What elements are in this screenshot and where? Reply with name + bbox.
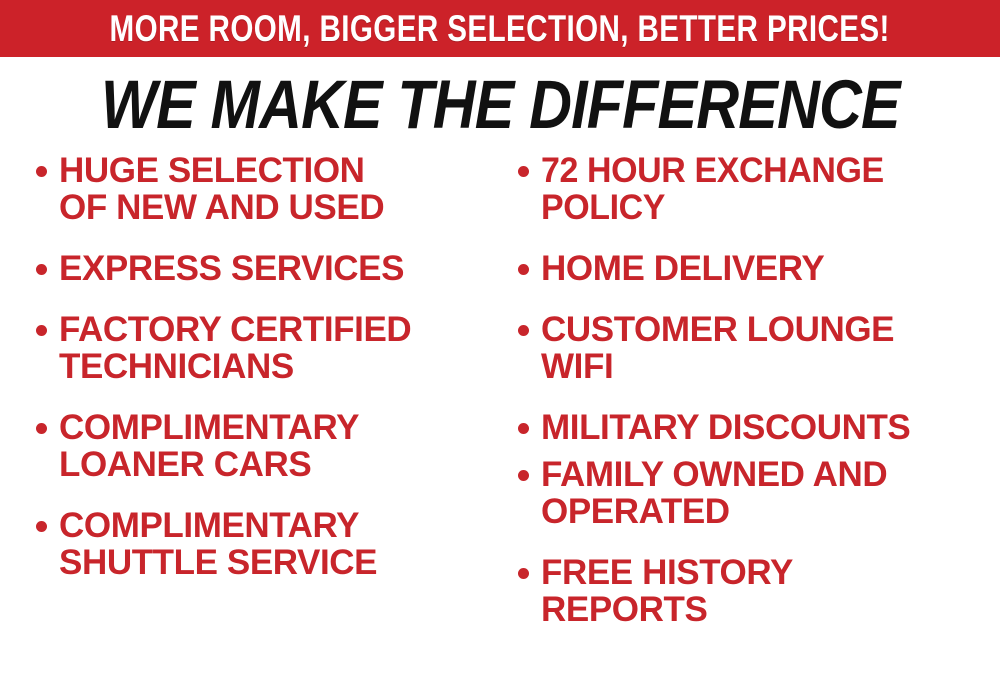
list-item: EXPRESS SERVICES xyxy=(18,250,490,287)
list-item: COMPLIMENTARY SHUTTLE SERVICE xyxy=(18,507,490,581)
bullet-dot-icon xyxy=(518,568,529,579)
list-item: CUSTOMER LOUNGE WIFI xyxy=(500,311,1000,385)
list-item-label: COMPLIMENTARY LOANER CARS xyxy=(59,409,359,483)
bullet-dot-icon xyxy=(36,264,47,275)
bullet-dot-icon xyxy=(36,521,47,532)
bullet-dot-icon xyxy=(518,423,529,434)
headline-container: WE MAKE THE DIFFERENCE xyxy=(0,68,1000,140)
list-item-label: FACTORY CERTIFIED TECHNICIANS xyxy=(59,311,411,385)
list-item-label: EXPRESS SERVICES xyxy=(59,250,404,287)
list-item: HOME DELIVERY xyxy=(500,250,1000,287)
bullet-dot-icon xyxy=(36,423,47,434)
benefits-columns: HUGE SELECTION OF NEW AND USED EXPRESS S… xyxy=(0,152,1000,694)
bullet-dot-icon xyxy=(36,325,47,336)
top-banner-text: MORE ROOM, BIGGER SELECTION, BETTER PRIC… xyxy=(110,10,890,47)
bullet-dot-icon xyxy=(518,470,529,481)
list-item-label: CUSTOMER LOUNGE WIFI xyxy=(541,311,894,385)
list-item-label: HOME DELIVERY xyxy=(541,250,824,287)
list-item-label: HUGE SELECTION OF NEW AND USED xyxy=(59,152,384,226)
benefits-column-left: HUGE SELECTION OF NEW AND USED EXPRESS S… xyxy=(0,152,500,694)
list-item-label: COMPLIMENTARY SHUTTLE SERVICE xyxy=(59,507,377,581)
bullet-dot-icon xyxy=(36,166,47,177)
top-banner: MORE ROOM, BIGGER SELECTION, BETTER PRIC… xyxy=(0,0,1000,57)
bullet-dot-icon xyxy=(518,264,529,275)
bullet-dot-icon xyxy=(518,325,529,336)
bullet-dot-icon xyxy=(518,166,529,177)
list-item-label: FAMILY OWNED AND OPERATED xyxy=(541,456,887,530)
list-item-label: 72 HOUR EXCHANGE POLICY xyxy=(541,152,884,226)
list-item: MILITARY DISCOUNTS xyxy=(500,409,1000,446)
list-item: 72 HOUR EXCHANGE POLICY xyxy=(500,152,1000,226)
list-item: FAMILY OWNED AND OPERATED xyxy=(500,456,1000,530)
list-item: FREE HISTORY REPORTS xyxy=(500,554,1000,628)
page-title: WE MAKE THE DIFFERENCE xyxy=(101,70,900,139)
list-item: COMPLIMENTARY LOANER CARS xyxy=(18,409,490,483)
promo-poster: MORE ROOM, BIGGER SELECTION, BETTER PRIC… xyxy=(0,0,1000,694)
list-item-label: FREE HISTORY REPORTS xyxy=(541,554,793,628)
list-item-label: MILITARY DISCOUNTS xyxy=(541,409,910,446)
list-item: HUGE SELECTION OF NEW AND USED xyxy=(18,152,490,226)
benefits-column-right: 72 HOUR EXCHANGE POLICY HOME DELIVERY CU… xyxy=(500,152,1000,694)
list-item: FACTORY CERTIFIED TECHNICIANS xyxy=(18,311,490,385)
